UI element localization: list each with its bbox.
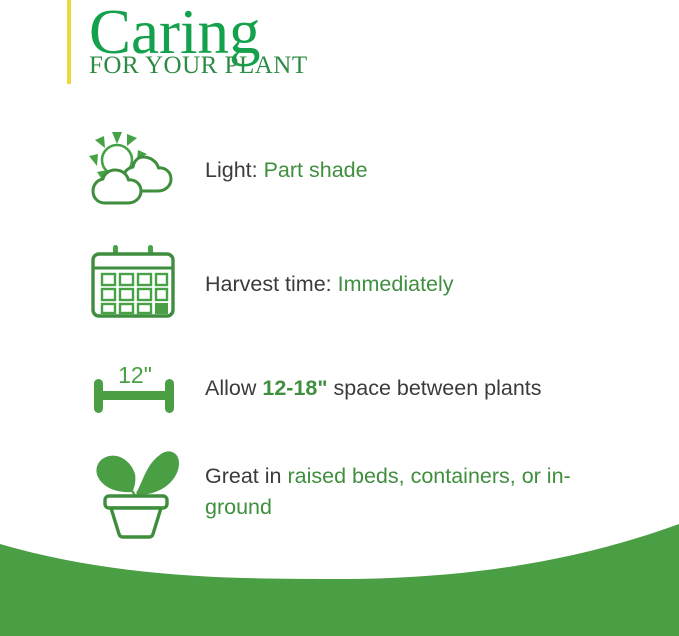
spacing-suffix: space between plants	[334, 376, 542, 400]
care-row-spacing: 12" Allow 12-18" space between plants	[82, 355, 542, 421]
header-accent-rule	[67, 0, 71, 84]
care-row-light: Light: Part shade	[82, 126, 368, 214]
header-text-group: Caring FOR YOUR PLANT	[89, 0, 308, 88]
care-row-harvest-text: Harvest time: Immediately	[205, 270, 454, 299]
calendar-icon	[82, 243, 187, 325]
care-row-placement-text: Great in raised beds, containers, or in-…	[205, 461, 605, 523]
care-row-spacing-text: Allow 12-18" space between plants	[205, 374, 542, 403]
header: Caring FOR YOUR PLANT	[67, 0, 308, 88]
bottom-decorative-swoosh	[0, 516, 679, 636]
sun-cloud-icon	[82, 126, 187, 214]
spacing-label: Allow	[205, 376, 256, 400]
light-value: Part shade	[264, 158, 368, 182]
spacing-icon-label: 12"	[118, 362, 152, 388]
light-label: Light:	[205, 158, 258, 182]
placement-label: Great in	[205, 464, 281, 488]
care-row-light-text: Light: Part shade	[205, 156, 368, 185]
page-subtitle: FOR YOUR PLANT	[89, 53, 308, 78]
spacing-value: 12-18"	[262, 376, 327, 400]
care-row-harvest: Harvest time: Immediately	[82, 243, 454, 325]
care-instructions-panel: Caring FOR YOUR PLANT	[0, 0, 679, 636]
harvest-label: Harvest time:	[205, 272, 332, 296]
harvest-value: Immediately	[338, 272, 454, 296]
spacing-ruler-icon: 12"	[82, 357, 187, 419]
